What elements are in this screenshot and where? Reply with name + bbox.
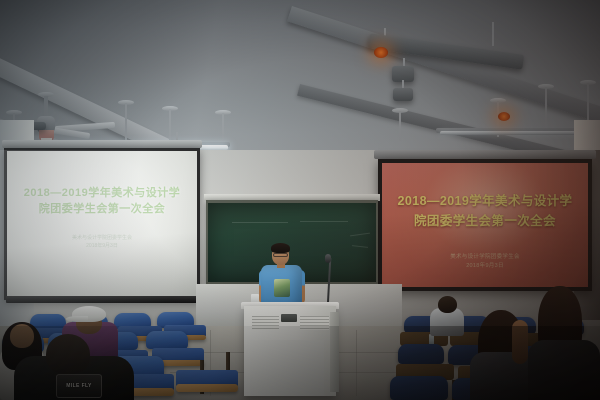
floor-shading: [0, 326, 600, 400]
ceiling-shading: [0, 0, 600, 158]
left-screen-roller: [2, 140, 202, 148]
microphone-head: [325, 254, 331, 263]
podium-control-panel: [281, 314, 297, 322]
cap-brim: [66, 316, 88, 322]
speaker-glasses: [273, 253, 288, 257]
speaker-hair: [271, 243, 290, 253]
right-person-head: [438, 296, 457, 313]
speaker-shirt-graphic: [274, 279, 290, 297]
classroom-photo: 2018—2019学年美术与设计学 院团委学生会第一次全会 美术与设计学院团委学…: [0, 0, 600, 400]
